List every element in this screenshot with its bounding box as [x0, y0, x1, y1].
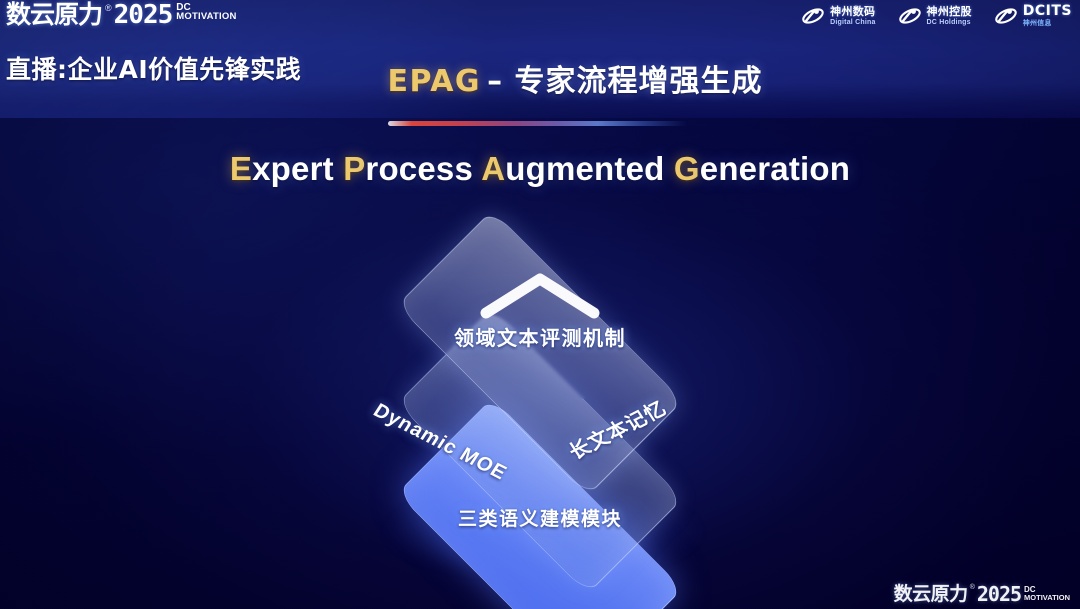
english-word-generation: Generation — [674, 150, 850, 187]
brand-motivation-text: MOTIVATION — [176, 13, 236, 21]
gradient-divider — [388, 121, 688, 126]
corp-logo-text: 神州控股 DC Holdings — [927, 6, 972, 26]
corp-logo-text: DCITS 神州信息 — [1023, 4, 1072, 27]
corp-name-cn: DCITS — [1023, 4, 1072, 18]
watermark-registered-mark: ® — [970, 584, 975, 591]
corp-logo-digital-china: 神州数码 Digital China — [801, 5, 875, 27]
brand-logo: 数云原力 ® 2025 DC MOTIVATION — [6, 2, 237, 28]
watermark-name-cn: 数云原力 — [894, 584, 968, 604]
corp-name-en: 神州信息 — [1023, 20, 1072, 27]
corp-name-en: Digital China — [830, 19, 875, 26]
corp-logo-text: 神州数码 Digital China — [830, 6, 875, 26]
english-subtitle: Expert Process Augmented Generation — [0, 150, 1080, 188]
brand-year: 2025 — [114, 2, 173, 28]
corp-name-en: DC Holdings — [927, 19, 972, 26]
corp-logo-dc-holdings: 神州控股 DC Holdings — [898, 5, 972, 27]
presentation-slide: 数云原力 ® 2025 DC MOTIVATION 直播:企业AI价值先锋实践 … — [0, 0, 1080, 609]
layer-label-top: 领域文本评测机制 — [283, 322, 797, 351]
layer-label-bottom: 三类语义建模模块 — [283, 504, 797, 531]
slide-headline: EPAG– 专家流程增强生成 — [0, 56, 1080, 100]
watermark-dc-text: DC — [1024, 586, 1070, 593]
layer-stack-diagram: 领域文本评测机制 Dynamic MOE 长文本记忆 三类语义建模模块 — [283, 222, 797, 577]
english-word-augmented: Augmented — [481, 150, 664, 187]
brand-dc-motivation: DC MOTIVATION — [176, 4, 236, 21]
watermark-motivation-text: MOTIVATION — [1024, 594, 1070, 601]
headline-chinese: – 专家流程增强生成 — [487, 64, 762, 99]
headline-abbreviation: EPAG — [387, 64, 481, 99]
corporate-logo-group: 神州数码 Digital China 神州控股 DC Holdings — [801, 4, 1072, 27]
corp-name-cn: 神州数码 — [830, 6, 875, 17]
swirl-logo-icon — [994, 5, 1018, 27]
brand-registered-mark: ® — [105, 2, 112, 14]
english-word-expert: Expert — [230, 150, 334, 187]
swirl-logo-icon — [801, 5, 825, 27]
watermark-year: 2025 — [977, 584, 1021, 604]
english-word-process: Process — [343, 150, 473, 187]
chevron-up-icon — [479, 270, 601, 325]
swirl-logo-icon — [898, 5, 922, 27]
footer-watermark: 数云原力 ® 2025 DC MOTIVATION — [894, 584, 1070, 604]
corp-name-cn: 神州控股 — [927, 6, 972, 17]
watermark-dc-motivation: DC MOTIVATION — [1024, 586, 1070, 601]
brand-name-cn: 数云原力 — [6, 2, 102, 28]
corp-logo-dcits: DCITS 神州信息 — [994, 4, 1072, 27]
